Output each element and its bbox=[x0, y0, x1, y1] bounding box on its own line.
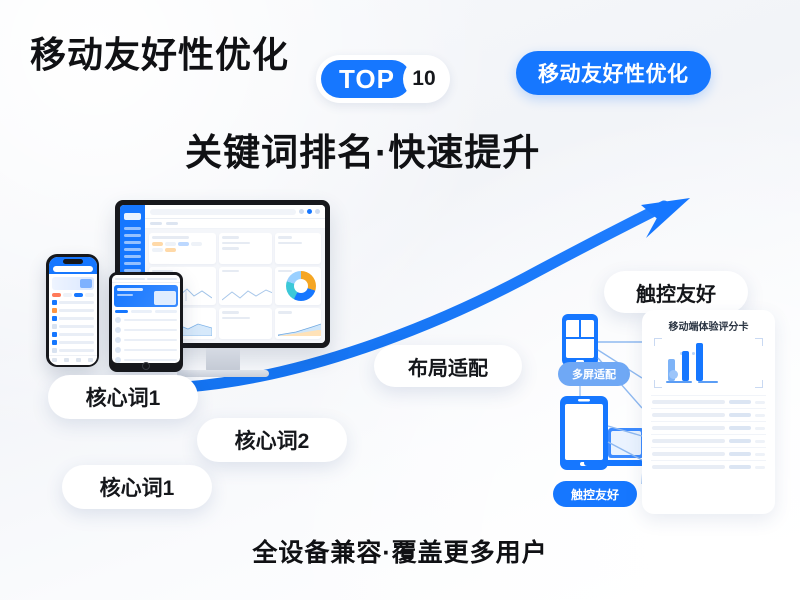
tablet-device bbox=[109, 272, 183, 372]
bracket-corner bbox=[755, 338, 763, 346]
card-text bbox=[222, 317, 251, 320]
poster-canvas: 移动友好性优化 TOP 10 移动友好性优化 关键词排名·快速提升 bbox=[0, 0, 800, 600]
list-item-text bbox=[59, 309, 94, 312]
area-chart bbox=[278, 320, 321, 336]
list-icon bbox=[52, 308, 57, 313]
sidebar-nav-item bbox=[124, 262, 141, 265]
score-card-title: 移动端体验评分卡 bbox=[651, 318, 766, 333]
stat-card bbox=[219, 308, 273, 339]
list-item bbox=[112, 315, 180, 325]
top-rank-badge: TOP 10 bbox=[316, 55, 450, 103]
touch-friendly-pill[interactable]: 触控友好 bbox=[604, 271, 748, 313]
list-item-text bbox=[59, 349, 94, 352]
card-title bbox=[222, 311, 239, 314]
rank-number: 10 bbox=[412, 67, 435, 91]
magnifier-icon bbox=[669, 370, 678, 379]
chip bbox=[165, 248, 176, 252]
row-label bbox=[652, 400, 725, 404]
layout-adapt-pill[interactable]: 布局适配 bbox=[374, 345, 522, 387]
tabbar-icon bbox=[76, 358, 81, 362]
row-delta bbox=[755, 453, 765, 456]
avatar bbox=[115, 327, 121, 333]
list-icon bbox=[52, 300, 57, 305]
list-item bbox=[49, 307, 97, 315]
row-value bbox=[729, 439, 751, 443]
bar-series bbox=[668, 343, 751, 381]
page-subtitle: 关键词排名·快速提升 bbox=[185, 122, 540, 176]
card-title bbox=[152, 236, 189, 239]
card-title bbox=[278, 236, 292, 239]
row-value bbox=[729, 413, 751, 417]
hero-thumbnail bbox=[80, 279, 92, 288]
table-row bbox=[651, 447, 766, 460]
stat-card bbox=[149, 233, 216, 264]
card-title bbox=[222, 270, 239, 273]
search-input bbox=[53, 266, 93, 272]
smartphone-device bbox=[46, 254, 99, 367]
breadcrumb bbox=[145, 219, 325, 229]
area-chart-card bbox=[275, 308, 321, 339]
search-input bbox=[150, 209, 296, 215]
stat-card bbox=[275, 233, 321, 264]
list-icon bbox=[52, 340, 57, 345]
keyword-pill-2[interactable]: 核心词2 bbox=[197, 418, 347, 462]
baseline bbox=[698, 381, 718, 384]
row-value bbox=[729, 452, 751, 456]
tab bbox=[155, 310, 177, 313]
bracket-corner bbox=[755, 380, 763, 388]
chip bbox=[152, 248, 163, 252]
row-label bbox=[652, 413, 725, 417]
keyword-pill-3[interactable]: 核心词1 bbox=[62, 465, 212, 509]
avatar bbox=[115, 357, 121, 363]
table-row bbox=[651, 395, 766, 408]
row-label bbox=[652, 452, 725, 456]
footer-caption: 全设备兼容·覆盖更多用户 bbox=[0, 533, 800, 569]
chip bbox=[178, 242, 189, 246]
avatar bbox=[115, 317, 121, 323]
avatar bbox=[115, 347, 121, 353]
list-item-text bbox=[124, 319, 177, 322]
chip bbox=[165, 242, 176, 246]
device-mockup-group bbox=[26, 192, 346, 392]
list-item-text bbox=[59, 333, 94, 336]
list-item-text bbox=[59, 301, 94, 304]
table-row bbox=[651, 460, 766, 473]
score-card: 移动端体验评分卡 bbox=[642, 310, 775, 514]
list-item-text bbox=[124, 349, 177, 352]
gear-icon bbox=[315, 209, 320, 214]
row-label bbox=[652, 439, 725, 443]
table-row bbox=[651, 408, 766, 421]
list-item bbox=[49, 323, 97, 331]
hero-headline bbox=[117, 288, 143, 291]
table-row bbox=[651, 434, 766, 447]
tab bbox=[85, 293, 94, 297]
home-button-icon bbox=[142, 362, 150, 370]
sidebar-nav-item bbox=[124, 227, 141, 230]
row-label bbox=[652, 426, 725, 430]
tablet-topbar-item bbox=[147, 278, 177, 280]
row-delta bbox=[755, 427, 765, 430]
row-label bbox=[652, 465, 725, 469]
list-icon bbox=[52, 332, 57, 337]
phone-screen bbox=[49, 257, 97, 365]
avatar bbox=[307, 209, 312, 214]
tabbar-icon bbox=[52, 358, 57, 362]
table-row bbox=[651, 421, 766, 434]
baseline bbox=[666, 381, 692, 384]
tablet-topbar bbox=[112, 275, 180, 283]
list-item bbox=[49, 315, 97, 323]
multi-screen-pill[interactable]: 多屏适配 bbox=[558, 362, 630, 386]
line-chart bbox=[222, 286, 273, 302]
row-delta bbox=[755, 440, 765, 443]
list-item bbox=[49, 331, 97, 339]
list-item-text bbox=[124, 359, 177, 362]
bracket-corner bbox=[654, 380, 662, 388]
score-card-chart bbox=[654, 338, 763, 388]
page-title: 移动友好性优化 bbox=[30, 26, 289, 78]
list-item-text bbox=[59, 325, 94, 328]
touch-friendly-diagram-pill[interactable]: 触控友好 bbox=[553, 481, 637, 507]
row-delta bbox=[755, 414, 765, 417]
row-value bbox=[729, 400, 751, 404]
tablet-hero-banner bbox=[114, 285, 178, 307]
row-delta bbox=[755, 466, 765, 469]
keyword-pill-1[interactable]: 核心词1 bbox=[48, 375, 198, 419]
row-value bbox=[729, 426, 751, 430]
card-text bbox=[278, 242, 302, 245]
list-icon bbox=[52, 348, 57, 353]
chip bbox=[152, 242, 163, 246]
card-text bbox=[222, 247, 239, 250]
monitor-base bbox=[177, 370, 269, 377]
breadcrumb-item bbox=[166, 222, 178, 225]
bell-icon bbox=[299, 209, 304, 214]
bracket-corner bbox=[654, 338, 662, 346]
notch bbox=[63, 259, 83, 264]
list-icon bbox=[52, 324, 57, 329]
stat-card bbox=[219, 233, 273, 264]
card-title bbox=[278, 270, 292, 273]
dashboard-topbar bbox=[145, 205, 325, 219]
list-item bbox=[112, 345, 180, 355]
phone-appbar bbox=[49, 257, 97, 274]
hero-subline bbox=[117, 294, 133, 296]
list-item-text bbox=[59, 341, 94, 344]
donut-chart-card bbox=[275, 267, 321, 305]
phone-hero-card bbox=[52, 277, 94, 290]
sidebar-nav-item bbox=[124, 234, 141, 237]
sidebar-nav-item bbox=[124, 248, 141, 251]
list-item bbox=[49, 339, 97, 347]
tabbar-icon bbox=[88, 358, 93, 362]
card-title bbox=[222, 236, 239, 239]
phone-tabbar bbox=[49, 355, 97, 365]
list-item bbox=[49, 299, 97, 307]
list-item bbox=[112, 325, 180, 335]
tab-active bbox=[115, 310, 128, 313]
sidebar-nav-item bbox=[124, 241, 141, 244]
monitor-stand bbox=[206, 348, 240, 372]
list-item-text bbox=[124, 339, 177, 342]
row-delta bbox=[755, 401, 765, 404]
tab bbox=[63, 293, 72, 297]
top-label: TOP bbox=[339, 64, 395, 95]
mobile-experience-diagram: 多屏适配 触控友好 移动端体验评分卡 bbox=[540, 308, 775, 518]
rank-circle: 10 bbox=[405, 60, 443, 98]
top-label-pill: TOP bbox=[321, 60, 411, 98]
tablet-topbar-item bbox=[115, 278, 145, 280]
sidebar-nav-item bbox=[124, 255, 141, 258]
list-icon bbox=[52, 316, 57, 321]
tablet-screen bbox=[112, 275, 180, 363]
hero-image bbox=[154, 291, 176, 305]
tab bbox=[52, 293, 61, 297]
list-item-text bbox=[59, 317, 94, 320]
tabbar-icon bbox=[64, 358, 69, 362]
tab bbox=[131, 310, 153, 313]
avatar bbox=[115, 337, 121, 343]
list-item bbox=[49, 347, 97, 355]
chip-row bbox=[152, 242, 213, 252]
header-tag-label: 移动友好性优化 bbox=[538, 58, 689, 88]
chart-card bbox=[219, 267, 273, 305]
list-item bbox=[112, 335, 180, 345]
dashboard-logo bbox=[124, 213, 141, 220]
card-title bbox=[278, 311, 292, 314]
chip bbox=[191, 242, 202, 246]
bar bbox=[682, 351, 689, 381]
list-item-text bbox=[124, 329, 177, 332]
header-tag-badge: 移动友好性优化 bbox=[516, 51, 711, 95]
tab-active bbox=[74, 293, 83, 297]
bar bbox=[696, 343, 703, 381]
breadcrumb-item bbox=[150, 222, 162, 225]
card-text bbox=[222, 242, 251, 245]
donut-chart bbox=[286, 271, 316, 301]
row-value bbox=[729, 465, 751, 469]
